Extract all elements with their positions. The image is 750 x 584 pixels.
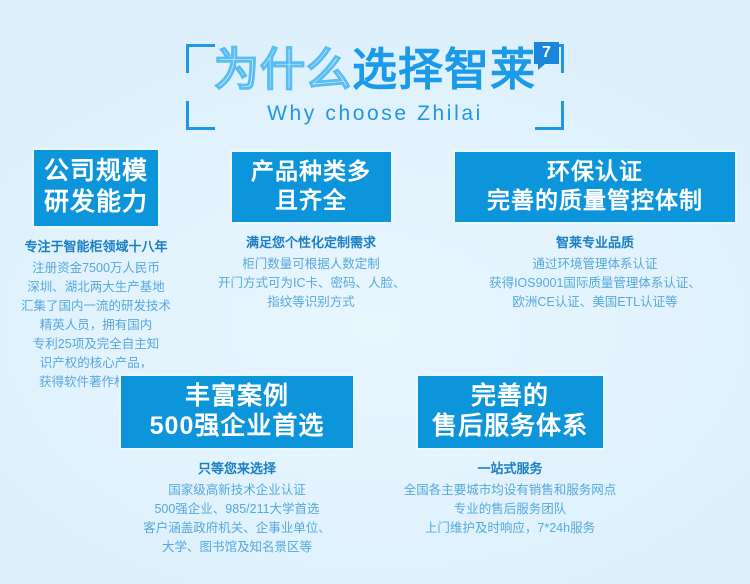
card-body-line: 专业的售后服务团队: [385, 500, 635, 519]
page-subtitle-en: Why choose Zhilai: [186, 102, 564, 126]
page-title: 为什么选择智莱: [186, 42, 564, 98]
card-body-line: 上门维护及时响应，7*24h服务: [385, 519, 635, 538]
card-subheading: 满足您个性化定制需求: [218, 233, 404, 253]
card-body-line: 欧洲CE认证、美国ETL认证等: [440, 293, 750, 312]
card-banner-line: 产品种类多: [232, 157, 391, 186]
card-body-line: 注册资金7500万人民币: [0, 259, 192, 278]
card-body-line: 专利25项及完全自主知: [0, 335, 192, 354]
card-body: 全国各主要城市均设有销售和服务网点 专业的售后服务团队 上门维护及时响应，7*2…: [385, 481, 635, 538]
card-body-line: 获得IOS9001国际质量管理体系认证、: [440, 274, 750, 293]
status-badge: 7: [534, 42, 559, 68]
card-banner: 丰富案例 500强企业首选: [119, 374, 355, 450]
card-body-line: 汇集了国内一流的研发技术: [0, 297, 192, 316]
card-body: 柜门数量可根据人数定制 开门方式可为IC卡、密码、人脸、 指纹等识别方式: [218, 255, 404, 312]
card-body-line: 柜门数量可根据人数定制: [218, 255, 404, 274]
feature-card-environmental-certification: 环保认证 完善的质量管控体制 智莱专业品质 通过环境管理体系认证 获得IOS90…: [440, 150, 750, 312]
card-banner-line: 公司规模: [34, 156, 158, 187]
card-subheading: 专注于智能柜领域十八年: [0, 237, 192, 257]
page-title-outline-part: 为什么: [214, 44, 352, 95]
card-body-line: 指纹等识别方式: [218, 293, 404, 312]
card-subheading: 只等您来选择: [82, 459, 392, 479]
badge-number: 7: [534, 42, 559, 64]
card-body-line: 客户涵盖政府机关、企事业单位、: [82, 519, 392, 538]
card-body-line: 识产权的核心产品，: [0, 354, 192, 373]
card-body: 注册资金7500万人民币 深圳、湖北两大生产基地 汇集了国内一流的研发技术 精英…: [0, 259, 192, 392]
card-body-line: 全国各主要城市均设有销售和服务网点: [385, 481, 635, 500]
promo-page: 为什么选择智莱 Why choose Zhilai 7 公司规模 研发能力 专注…: [0, 0, 750, 584]
page-header: 为什么选择智莱 Why choose Zhilai 7: [186, 44, 564, 130]
card-body-line: 开门方式可为IC卡、密码、人脸、: [218, 274, 404, 293]
badge-tail-icon: [538, 64, 545, 70]
card-body-line: 深圳、湖北两大生产基地: [0, 278, 192, 297]
card-banner-line: 环保认证: [455, 157, 735, 186]
card-banner-line: 售后服务体系: [418, 411, 603, 441]
card-banner-line: 完善的: [418, 381, 603, 411]
feature-card-after-sales-service: 完善的 售后服务体系 一站式服务 全国各主要城市均设有销售和服务网点 专业的售后…: [385, 374, 635, 538]
card-banner: 产品种类多 且齐全: [230, 150, 393, 224]
card-subheading: 一站式服务: [385, 459, 635, 479]
card-banner-line: 且齐全: [232, 186, 391, 215]
card-banner: 完善的 售后服务体系: [416, 374, 605, 450]
card-body-line: 国家级高新技术企业认证: [82, 481, 392, 500]
card-body-line: 通过环境管理体系认证: [440, 255, 750, 274]
card-body-line: 精英人员，拥有国内: [0, 316, 192, 335]
card-body-line: 500强企业、985/211大学首选: [82, 500, 392, 519]
card-banner-line: 研发能力: [34, 187, 158, 218]
card-body: 通过环境管理体系认证 获得IOS9001国际质量管理体系认证、 欧洲CE认证、美…: [440, 255, 750, 312]
page-title-solid-part: 选择智莱: [352, 44, 536, 95]
card-banner-line: 丰富案例: [121, 381, 353, 411]
card-body: 国家级高新技术企业认证 500强企业、985/211大学首选 客户涵盖政府机关、…: [82, 481, 392, 557]
card-banner: 公司规模 研发能力: [32, 148, 160, 228]
card-body-line: 大学、图书馆及知名景区等: [82, 538, 392, 557]
card-banner-line: 500强企业首选: [121, 411, 353, 441]
card-banner-line: 完善的质量管控体制: [455, 186, 735, 215]
card-banner: 环保认证 完善的质量管控体制: [453, 150, 737, 224]
card-subheading: 智莱专业品质: [440, 233, 750, 253]
feature-card-company-scale: 公司规模 研发能力 专注于智能柜领域十八年 注册资金7500万人民币 深圳、湖北…: [0, 148, 192, 392]
feature-card-product-variety: 产品种类多 且齐全 满足您个性化定制需求 柜门数量可根据人数定制 开门方式可为I…: [218, 150, 404, 312]
feature-card-rich-cases: 丰富案例 500强企业首选 只等您来选择 国家级高新技术企业认证 500强企业、…: [82, 374, 392, 557]
